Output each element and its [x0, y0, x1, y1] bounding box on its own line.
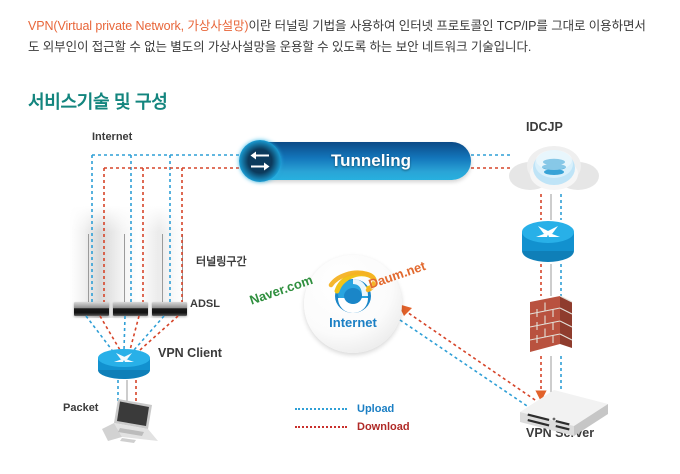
client-laptop-icon	[100, 397, 162, 449]
download-dash-icon	[295, 426, 347, 428]
legend-label-upload: Upload	[357, 403, 394, 415]
network-diagram: Internet 터널링구간 ADSL VPN Client Packet ID…	[0, 110, 680, 474]
upload-dash-icon	[295, 408, 347, 410]
bidirectional-arrows-icon	[239, 140, 281, 182]
internet-link-label: Internet	[92, 131, 132, 143]
legend-label-download: Download	[357, 421, 410, 433]
intro-highlight: VPN(Virtual private Network, 가상사설망)	[28, 19, 249, 33]
legend-item-download: Download	[295, 418, 410, 436]
legend: Upload Download	[295, 400, 410, 436]
idc-router-icon	[520, 218, 576, 264]
intro-paragraph: VPN(Virtual private Network, 가상사설망)이란 터널…	[28, 16, 654, 58]
firewall-icon	[524, 294, 578, 356]
arrow-left-icon	[250, 151, 270, 160]
tunnel-region-label: 터널링구간	[196, 253, 247, 269]
arrow-right-icon	[250, 162, 270, 171]
packet-label: Packet	[63, 402, 98, 414]
legend-item-upload: Upload	[295, 400, 410, 418]
vpn-client-router-icon	[96, 348, 152, 380]
internet-globe-label: Internet	[304, 315, 402, 330]
vpn-server-icon	[516, 388, 612, 442]
adsl-label: ADSL	[190, 298, 220, 310]
idc-cloud-icon	[508, 140, 600, 194]
vpn-client-label: VPN Client	[158, 346, 222, 360]
idcjp-label: IDCJP	[526, 120, 563, 134]
